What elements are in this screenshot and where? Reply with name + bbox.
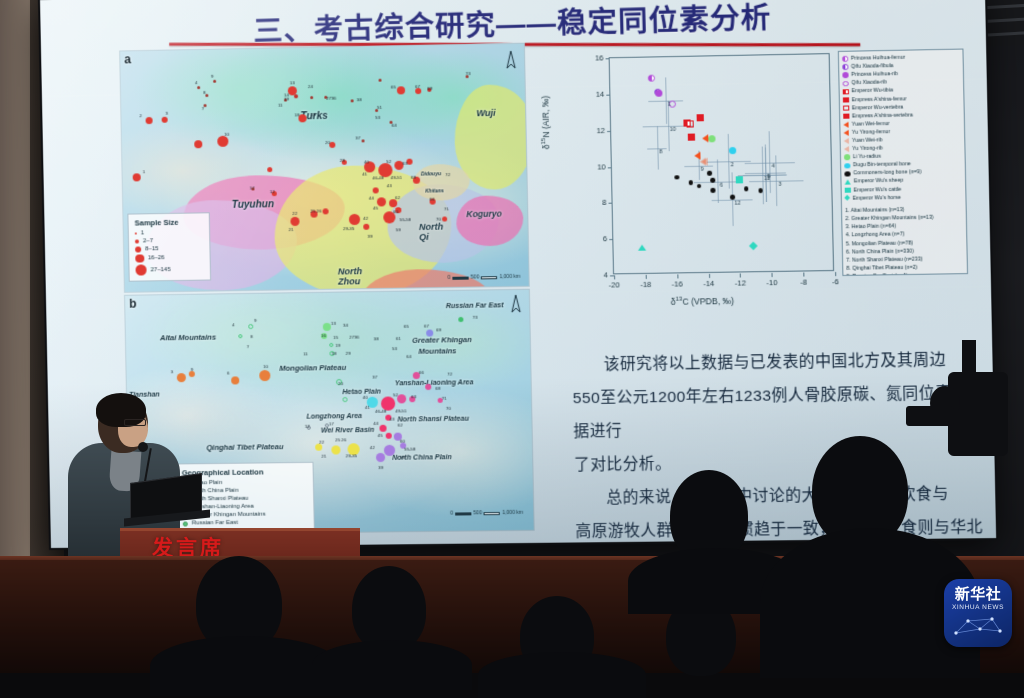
y-tick-label: 12 (591, 126, 605, 135)
y-tick (606, 58, 610, 59)
scatter-point (701, 158, 707, 166)
scatter-point (686, 120, 693, 127)
y-tick-label: 10 (591, 162, 605, 171)
y-tick-label: 4 (594, 270, 608, 279)
chart-legend-marker (845, 187, 851, 193)
scatter-point (647, 75, 654, 82)
scalebar-zero: 0 (448, 275, 451, 281)
map-region-label: Wei River Basin (321, 427, 374, 435)
camera-monitor (906, 406, 954, 426)
map-region-label: Russian Far East (446, 302, 504, 310)
scatter-point (656, 90, 663, 97)
group-mean-number: 9 (701, 166, 704, 172)
x-tick-label: -20 (606, 280, 622, 289)
y-tick (607, 131, 611, 132)
map-region-label: North Zhou (338, 266, 381, 287)
chart-plot-area: -20-18-16-14-12-10-8-6468101214161234567… (609, 53, 834, 274)
scalebar-max: 1,000 km (499, 274, 520, 280)
scalebar-mid: 500 (473, 510, 482, 516)
scatter-point (702, 134, 708, 142)
slide-body-line: 该研究将以上数据与已发表的中国北方及其周边 (572, 343, 983, 382)
panel-letter-a: a (124, 52, 131, 66)
group-mean-number: 2 (730, 162, 733, 168)
group-mean-number: 10 (670, 127, 676, 133)
scalebar-max: 1,000 km (502, 510, 523, 516)
scalebar-zero: 0 (450, 511, 453, 517)
scatter-point (674, 175, 679, 180)
y-tick (609, 203, 613, 204)
chart-legend-label: Princess Huihua-rib (851, 70, 898, 79)
chart-legend-marker (843, 105, 849, 111)
scatter-point (749, 241, 757, 249)
chart-legend-marker (843, 114, 849, 120)
chart-legend-marker (844, 155, 850, 161)
chart-y-axis-label: δ15N (AIR, ‰) (540, 96, 551, 150)
y-tick-label: 16 (589, 53, 603, 62)
chart-legend: Princess Huihua-femurQifu Xiaoda-fibulaP… (838, 49, 968, 276)
scatter-point (688, 134, 695, 141)
map-region-label: Longzhong Area (306, 413, 362, 421)
map-a-sample-size-legend: Sample Size 1 2–7 8–15 16–26 27–145 (127, 212, 211, 281)
map-region-label: Tuyuhun (232, 199, 275, 211)
x-tick (835, 272, 836, 276)
map-region-label: Qinghai Tibet Plateau (206, 442, 283, 452)
legend-label: 8–15 (145, 246, 159, 252)
legend-label: 1 (141, 230, 144, 236)
map-region-label: Khitans (425, 188, 444, 194)
chart-legend-marker (844, 130, 849, 136)
scalebar-mid: 500 (471, 274, 480, 280)
scatter-point (711, 188, 716, 193)
north-arrow-icon (506, 50, 517, 73)
group-mean-number: 6 (720, 182, 723, 188)
chart-legend-marker (844, 146, 849, 152)
scatter-point (736, 176, 743, 183)
y-tick-label: 6 (593, 234, 607, 243)
chart-legend-marker (844, 163, 850, 169)
legend-label: 16–26 (148, 255, 165, 261)
map-region-label: North Qi (419, 221, 454, 242)
y-tick (610, 275, 614, 276)
x-tick (740, 273, 741, 277)
scatter-point (729, 147, 736, 154)
legend-marker (183, 521, 188, 526)
legend-marker (135, 254, 144, 263)
figure-panel-a-map: a Turks Wuji Koguryo Tuyuhun North Qi No… (119, 43, 530, 293)
x-tick-label: -16 (669, 279, 686, 288)
scatter-point (638, 244, 646, 250)
legend-marker (135, 246, 141, 252)
watermark-network-graphic (950, 613, 1006, 639)
audience-shoulders (312, 640, 472, 690)
scalebar-segment (484, 512, 500, 515)
xinhua-news-watermark: 新华社 XINHUA NEWS (944, 579, 1012, 647)
x-tick (803, 272, 804, 276)
chart-legend-marker (844, 138, 849, 144)
watermark-chinese-text: 新华社 (955, 586, 1002, 603)
chart-legend-marker (843, 89, 849, 95)
x-tick-label: -6 (827, 277, 844, 286)
video-camera-body (948, 372, 1008, 456)
legend-row: 27–145 (135, 263, 204, 277)
group-mean-number: 12 (734, 200, 740, 206)
panel-letter-b: b (129, 297, 137, 311)
y-tick-label: 14 (590, 90, 604, 99)
isotope-scatter-chart: -20-18-16-14-12-10-8-6468101214161234567… (545, 40, 971, 320)
x-tick (772, 273, 773, 277)
x-tick (614, 275, 615, 279)
group-mean-number: 11 (764, 176, 770, 182)
microphone-head-icon (138, 442, 148, 452)
scalebar-segment (481, 276, 497, 279)
y-tick-label: 8 (592, 198, 606, 207)
scatter-point (689, 180, 694, 185)
y-tick (608, 167, 612, 168)
map-region-label: Wuji (476, 108, 495, 118)
chart-legend-marker (843, 81, 849, 87)
chart-legend-label: Yu Yirong-femur (852, 128, 890, 137)
x-tick-label: -14 (701, 279, 718, 288)
camera-mount-arm (962, 340, 976, 380)
chart-legend-marker (843, 97, 849, 103)
map-region-label: Mountains (418, 346, 456, 356)
map-region-label: Altai Mountains (160, 333, 216, 343)
map-region-label: Hetao Plain (342, 389, 381, 397)
scatter-point (709, 135, 716, 142)
scalebar-segment (452, 276, 468, 279)
group-mean-number: 4 (772, 163, 775, 169)
group-mean-number: 3 (778, 181, 781, 187)
chart-legend-marker (843, 122, 848, 128)
map-region-label: Didouyu (421, 171, 441, 177)
scatter-point (730, 195, 735, 200)
map-region-label: North Shansi Plateau (397, 416, 468, 424)
scatter-point (744, 187, 749, 192)
slide-body-line: 了对比分析。 (574, 444, 985, 482)
chart-legend-marker (842, 64, 848, 70)
map-region-label: Mongolian Plateau (279, 363, 346, 373)
chart-legend-group-label: 9. Russian Far East (n=4) (846, 271, 964, 276)
legend-row: Russian Far East (183, 518, 308, 527)
y-tick (606, 94, 610, 95)
group-mean-number: 8 (659, 149, 662, 155)
north-arrow-icon (511, 294, 522, 317)
legend-marker (135, 239, 139, 243)
slide-body-line: 总的来说，本研究中讨论的大多数贵族的饮食与 (574, 477, 985, 515)
watermark-english-text: XINHUA NEWS (952, 604, 1004, 611)
x-tick-label: -8 (795, 277, 812, 286)
scatter-point (697, 184, 702, 189)
speaker-glasses (124, 419, 146, 426)
map-region-label: Koguryo (466, 209, 502, 220)
legend-label: Russian Far East (192, 520, 238, 527)
chart-legend-marker (844, 171, 850, 177)
chart-x-axis-label: δ13C (VPDB, ‰) (671, 296, 735, 307)
group-mean-number: 1 (668, 102, 671, 108)
map-region-label: Yanshan-Liaoning Area (395, 379, 474, 387)
x-tick (646, 275, 647, 279)
x-tick-label: -12 (732, 278, 749, 287)
legend-label: 2–7 (143, 238, 153, 244)
chart-legend-marker (842, 56, 848, 62)
legend-label: 27–145 (151, 267, 171, 273)
map-b-scalebar: 0 500 1,000 km (450, 510, 523, 517)
legend-title: Sample Size (135, 217, 203, 227)
map-region-label: Greater Khingan (412, 335, 472, 345)
x-tick (677, 274, 678, 278)
audience-shoulders (478, 652, 646, 698)
chart-legend-marker (844, 195, 850, 201)
scatter-point (697, 114, 704, 121)
legend-marker (135, 232, 137, 234)
scatter-point (758, 188, 763, 193)
map-a-scalebar: 0 500 1,000 km (448, 274, 521, 281)
x-tick-label: -10 (764, 278, 781, 287)
scatter-point (707, 171, 712, 176)
chart-legend-marker (842, 73, 848, 79)
slide-body-text: 该研究将以上数据与已发表的中国北方及其周边550至公元1200年左右1233例人… (572, 343, 987, 548)
chart-legend-marker (845, 179, 851, 184)
x-tick-label: -18 (637, 280, 654, 289)
x-tick (709, 274, 710, 278)
y-tick (609, 239, 613, 240)
scalebar-segment (455, 512, 471, 515)
legend-marker (135, 264, 146, 275)
chart-legend-label: Emperor Wu's horse (852, 194, 901, 203)
